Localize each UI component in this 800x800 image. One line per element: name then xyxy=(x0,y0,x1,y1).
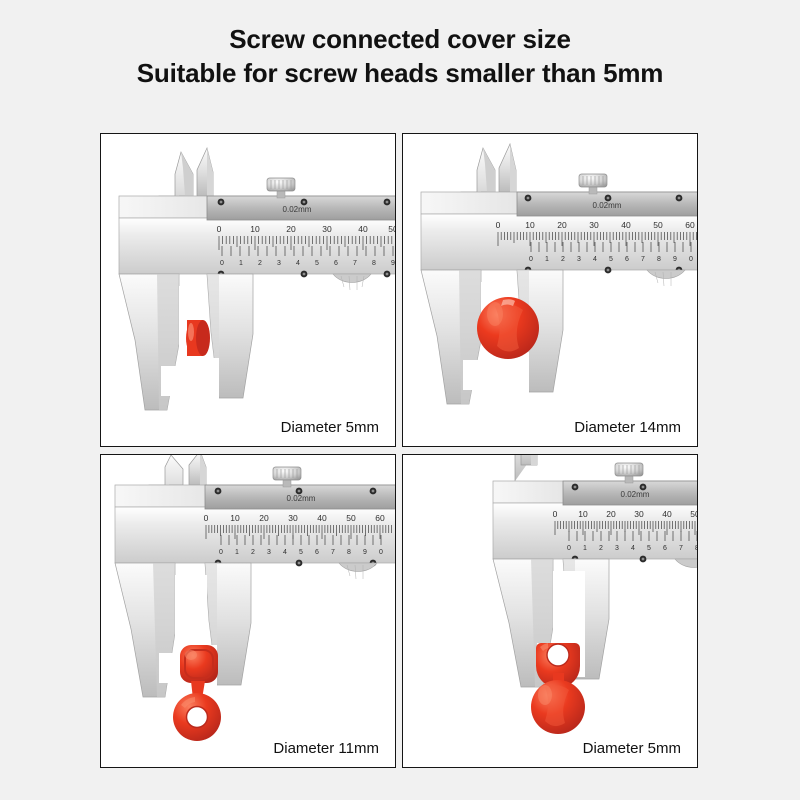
vernier-scale-ticks-2 xyxy=(531,242,691,252)
svg-text:30: 30 xyxy=(322,224,332,234)
page-title: Screw connected cover size Suitable for … xyxy=(0,22,800,90)
svg-text:10: 10 xyxy=(525,220,535,230)
svg-text:0: 0 xyxy=(529,256,533,263)
svg-text:7: 7 xyxy=(331,549,335,556)
svg-text:3: 3 xyxy=(267,549,271,556)
svg-text:0: 0 xyxy=(689,256,693,263)
caliper-panel-grid: 0.02mm 0 10 xyxy=(100,133,700,769)
caliper-illustration-2: 0.02mm 0 10 20 30 xyxy=(403,134,698,447)
svg-text:5: 5 xyxy=(299,549,303,556)
svg-text:7: 7 xyxy=(679,545,683,552)
caliper-illustration-3: 0.02mm 0 10 20 30 xyxy=(101,455,396,768)
svg-text:50: 50 xyxy=(346,513,356,523)
svg-text:2: 2 xyxy=(561,256,565,263)
precision-label-3: 0.02mm xyxy=(287,494,316,503)
svg-text:3: 3 xyxy=(577,256,581,263)
svg-text:60: 60 xyxy=(685,220,695,230)
svg-text:6: 6 xyxy=(334,260,338,267)
svg-text:40: 40 xyxy=(621,220,631,230)
svg-text:10: 10 xyxy=(250,224,260,234)
svg-text:8: 8 xyxy=(657,256,661,263)
svg-text:0: 0 xyxy=(217,224,222,234)
svg-text:60: 60 xyxy=(375,513,385,523)
svg-text:30: 30 xyxy=(634,509,644,519)
specimen-red-ring-with-dome-cap-4 xyxy=(531,643,585,734)
svg-text:1: 1 xyxy=(583,545,587,552)
svg-text:10: 10 xyxy=(230,513,240,523)
svg-text:5: 5 xyxy=(609,256,613,263)
svg-text:0: 0 xyxy=(219,549,223,556)
svg-text:5: 5 xyxy=(315,260,319,267)
panel-caption-2: Diameter 14mm xyxy=(574,419,681,436)
svg-text:5: 5 xyxy=(647,545,651,552)
panel-caption-4: Diameter 5mm xyxy=(583,740,681,757)
svg-text:8: 8 xyxy=(347,549,351,556)
svg-text:0: 0 xyxy=(220,260,224,267)
svg-text:30: 30 xyxy=(589,220,599,230)
svg-text:4: 4 xyxy=(593,256,597,263)
svg-text:20: 20 xyxy=(606,509,616,519)
svg-text:50: 50 xyxy=(690,509,698,519)
precision-label-4: 0.02mm xyxy=(621,490,650,499)
svg-text:8: 8 xyxy=(372,260,376,267)
svg-text:20: 20 xyxy=(557,220,567,230)
svg-text:3: 3 xyxy=(277,260,281,267)
vernier-scale-ticks-3 xyxy=(221,535,381,545)
svg-text:1: 1 xyxy=(239,260,243,267)
svg-text:1: 1 xyxy=(545,256,549,263)
svg-text:0: 0 xyxy=(204,513,209,523)
specimen-large-red-dome-2 xyxy=(477,297,539,359)
svg-text:50: 50 xyxy=(653,220,663,230)
svg-text:0: 0 xyxy=(496,220,501,230)
svg-text:0: 0 xyxy=(553,509,558,519)
svg-text:3: 3 xyxy=(615,545,619,552)
svg-text:8: 8 xyxy=(695,545,698,552)
precision-label-1: 0.02mm xyxy=(283,205,312,214)
caliper-illustration-1: 0.02mm 0 10 xyxy=(101,134,396,447)
page-title-line-1: Screw connected cover size xyxy=(0,22,800,56)
precision-label-2: 0.02mm xyxy=(593,201,622,210)
panel-diameter-5mm-top: 0.02mm 0 10 xyxy=(100,133,396,447)
svg-text:7: 7 xyxy=(641,256,645,263)
panel-caption-3: Diameter 11mm xyxy=(273,740,379,757)
svg-text:2: 2 xyxy=(258,260,262,267)
svg-text:4: 4 xyxy=(283,549,287,556)
svg-text:6: 6 xyxy=(625,256,629,263)
panel-caption-1: Diameter 5mm xyxy=(281,419,379,436)
svg-text:40: 40 xyxy=(317,513,327,523)
svg-text:4: 4 xyxy=(296,260,300,267)
panel-diameter-14mm: 0.02mm 0 10 20 30 xyxy=(402,133,698,447)
panel-diameter-11mm: 0.02mm 0 10 20 30 xyxy=(100,454,396,768)
svg-text:30: 30 xyxy=(288,513,298,523)
svg-text:2: 2 xyxy=(599,545,603,552)
panel-diameter-5mm-bottom: 0.02mm 0 10 20 30 40 50 xyxy=(402,454,698,768)
svg-text:9: 9 xyxy=(673,256,677,263)
specimen-small-red-cap-1 xyxy=(186,320,210,356)
svg-text:40: 40 xyxy=(358,224,368,234)
svg-text:9: 9 xyxy=(391,260,395,267)
svg-text:20: 20 xyxy=(259,513,269,523)
svg-text:0: 0 xyxy=(379,549,383,556)
svg-text:1: 1 xyxy=(235,549,239,556)
svg-text:7: 7 xyxy=(353,260,357,267)
svg-text:9: 9 xyxy=(363,549,367,556)
svg-text:0: 0 xyxy=(567,545,571,552)
page-title-line-2: Suitable for screw heads smaller than 5m… xyxy=(0,56,800,90)
svg-text:10: 10 xyxy=(578,509,588,519)
caliper-illustration-4: 0.02mm 0 10 20 30 40 50 xyxy=(403,455,698,768)
vernier-scale-labels-4: 0 1 2 3 4 5 6 7 8 xyxy=(567,545,698,552)
svg-text:50: 50 xyxy=(388,224,396,234)
svg-text:20: 20 xyxy=(286,224,296,234)
svg-text:6: 6 xyxy=(663,545,667,552)
svg-text:2: 2 xyxy=(251,549,255,556)
svg-text:40: 40 xyxy=(662,509,672,519)
svg-text:6: 6 xyxy=(315,549,319,556)
svg-text:4: 4 xyxy=(631,545,635,552)
